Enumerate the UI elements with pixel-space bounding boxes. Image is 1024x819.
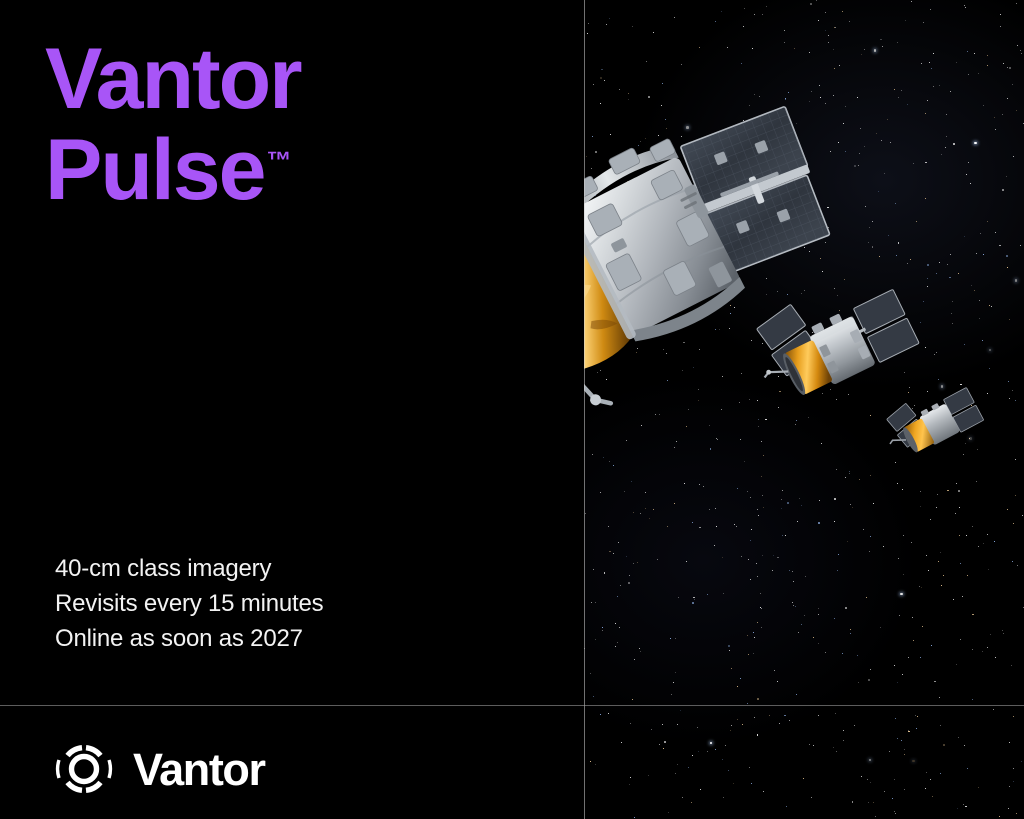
feature-item-revisit: Revisits every 15 minutes	[55, 586, 323, 621]
title-line-2-text: Pulse	[45, 122, 264, 218]
vertical-divider	[584, 0, 585, 819]
brand-wordmark: Vantor	[133, 747, 265, 792]
title-line-2: Pulse™	[45, 129, 301, 212]
space-backdrop	[584, 0, 1024, 819]
satellite-foreground	[584, 48, 862, 418]
promo-canvas: Vantor Pulse™ 40-cm class imagery Revisi…	[0, 0, 1024, 819]
title-line-1: Vantor	[45, 38, 301, 121]
vantor-aperture-icon	[53, 738, 115, 800]
horizontal-divider	[0, 705, 1024, 706]
trademark-symbol: ™	[266, 147, 291, 175]
feature-list: 40-cm class imagery Revisits every 15 mi…	[55, 551, 323, 656]
brand-lockup: Vantor	[53, 738, 265, 800]
feature-item-resolution: 40-cm class imagery	[55, 551, 323, 586]
page-title: Vantor Pulse™	[45, 38, 301, 211]
feature-item-availability: Online as soon as 2027	[55, 621, 323, 656]
